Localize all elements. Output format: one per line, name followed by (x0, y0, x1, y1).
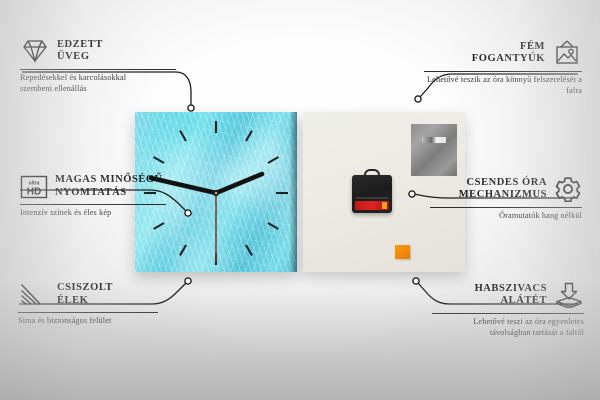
hour-hand (216, 174, 262, 193)
callout-description: Sima és biztonságos felület (18, 316, 158, 327)
svg-text:HD: HD (27, 186, 41, 197)
callout-csiszolt-elek: CSISZOLT ÉLEK Sima és biztonságos felüle… (18, 282, 158, 327)
callout-rule (424, 71, 582, 72)
mechanism-seam (356, 197, 388, 199)
callout-description: Intenzív színek és éles kép (20, 208, 166, 219)
callout-csendes-ora-mechanizmus: CSENDES ÓRA MECHANIZMUS Óramutatók hang … (430, 176, 582, 222)
polished-edge-icon (18, 283, 50, 307)
callout-title-line2: FOGANTYÚK (472, 53, 545, 66)
callout-title-line1: HABSZIVACS (475, 283, 547, 296)
battery (355, 201, 389, 210)
callout-rule (20, 69, 176, 70)
foam-pad (395, 245, 410, 259)
callout-rule (18, 312, 158, 313)
callout-title-line1: MAGAS MINŐSÉGŰ (55, 174, 163, 187)
leader-dot-habszivacs (413, 278, 419, 284)
diamond-icon (20, 38, 50, 64)
hanger-slot (422, 137, 446, 143)
ultra-hd-icon: ultra HD (20, 175, 48, 199)
callout-description: Lehetővé teszi az óra egyenletes távolsá… (432, 317, 584, 338)
gear-icon (554, 176, 582, 202)
callout-fem-fogantyuk: FÉM FOGANTYÚK Lehetővé teszik az óra kön… (424, 40, 582, 96)
callout-description: Repedésekkel és karcolásokkal szembeni e… (20, 73, 160, 94)
leader-dot-csiszolt-elek (185, 278, 191, 284)
foam-pad-icon (554, 282, 584, 308)
callout-rule (430, 207, 582, 208)
callout-description: Óramutatók hang nélkül (430, 211, 582, 222)
picture-hanger-icon (552, 40, 582, 66)
mechanism-loop (364, 169, 380, 178)
callout-edzett-uveg: EDZETT ÜVEG Repedésekkel és karcolásokka… (20, 38, 178, 94)
metal-hanger (411, 124, 457, 176)
callout-magas-minosegu-nyomtatas: ultra HD MAGAS MINŐSÉGŰ NYOMTATÁS Intenz… (20, 174, 168, 219)
callout-title-line1: CSENDES ÓRA (459, 177, 547, 190)
callout-habszivacs-alatet: HABSZIVACS ALÁTÉT Lehetővé teszi az óra … (432, 282, 584, 338)
leader-dot-edzett-uveg (188, 105, 194, 111)
infographic-stage: EDZETT ÜVEG Repedésekkel és karcolásokka… (0, 0, 600, 400)
callout-title-line2: ÉLEK (57, 295, 113, 308)
callout-description: Lehetővé teszik az óra könnyű felszerelé… (424, 75, 582, 96)
callout-rule (20, 204, 166, 205)
callout-rule (432, 313, 584, 314)
callout-title-line2: NYOMTATÁS (55, 187, 163, 200)
leader-dot-fem-fogantyuk (415, 96, 421, 102)
callout-title-line1: CSISZOLT (57, 282, 113, 295)
callout-title-line1: EDZETT (57, 39, 103, 52)
callout-title-line2: MECHANIZMUS (459, 189, 547, 202)
callout-title-line2: ALÁTÉT (475, 295, 547, 308)
clock-mechanism (352, 175, 392, 213)
callout-title-line1: FÉM (472, 41, 545, 54)
callout-title-line2: ÜVEG (57, 51, 103, 64)
product-images (135, 112, 465, 272)
